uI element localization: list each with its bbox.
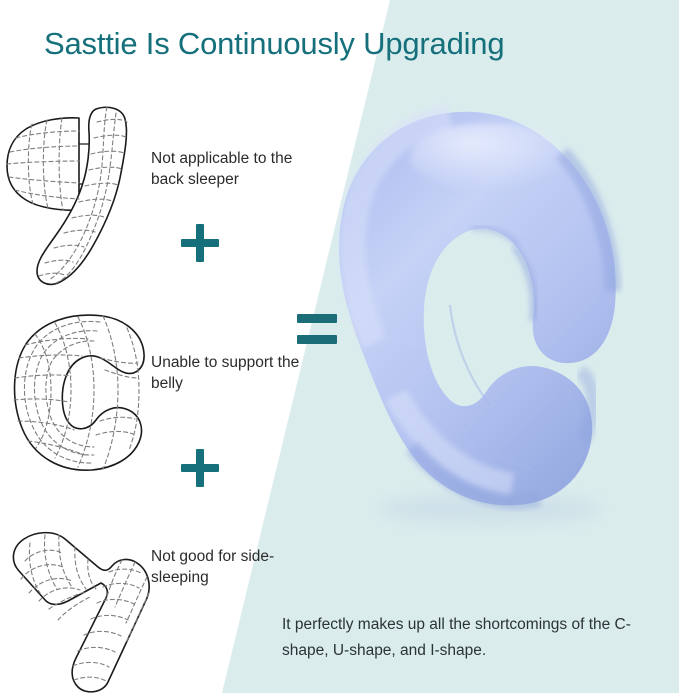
wireframe-c-shape-pillow	[8, 300, 158, 480]
plus-icon	[181, 449, 219, 487]
note-side-sleeping: Not good for side-sleeping	[151, 546, 301, 588]
page-title: Sasttie Is Continuously Upgrading	[44, 26, 504, 62]
plus-operator-1	[181, 224, 219, 262]
plus-operator-2	[181, 449, 219, 487]
product-infographic: Sasttie Is Continuously Upgrading	[0, 0, 679, 693]
plus-icon	[181, 224, 219, 262]
wireframe-j-shape-pillow	[4, 96, 154, 296]
note-back-sleeper: Not applicable to the back sleeper	[151, 148, 301, 190]
note-belly-support: Unable to support the belly	[151, 352, 301, 394]
wireframe-u-shape-pillow	[2, 505, 167, 693]
product-caption: It perfectly makes up all the shortcomin…	[282, 612, 662, 664]
product-photo	[300, 95, 679, 595]
